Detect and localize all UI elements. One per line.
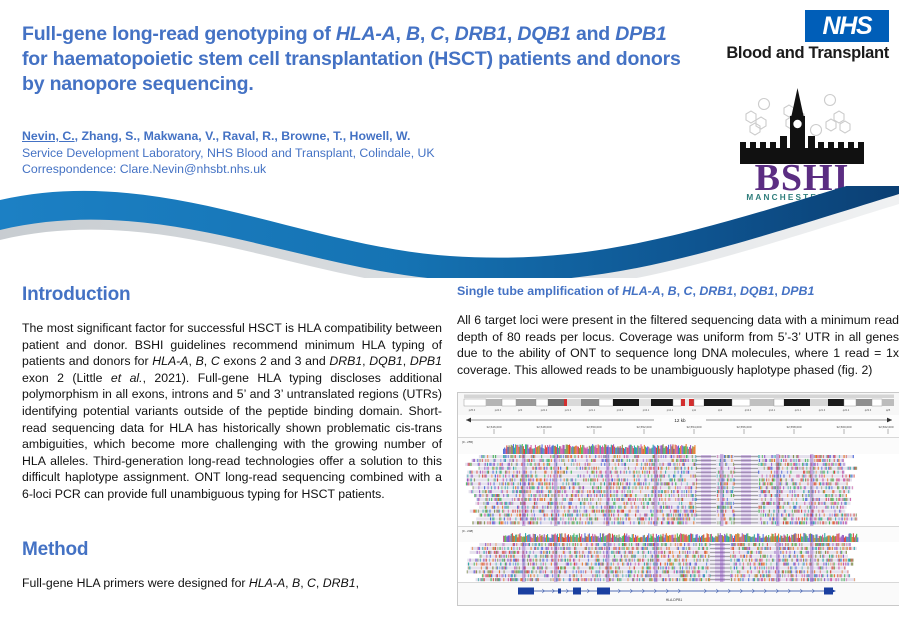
author-list: Nevin, C., Zhang, S., Makwana, V., Raval… (22, 128, 492, 145)
svg-text:q13.2: q13.2 (745, 408, 752, 412)
coverage-graphic-2: [0 - 248] (458, 527, 899, 543)
svg-text:p12.1: p12.1 (667, 408, 674, 412)
gene-annotation-track: HLA-DPB1 (458, 582, 899, 605)
author-block: Nevin, C., Zhang, S., Makwana, V., Raval… (22, 128, 492, 178)
gene-label: HLA-DPB1 (666, 598, 683, 602)
ruler-span-label: 12 kb (674, 418, 686, 423)
svg-text:32,556,000: 32,556,000 (736, 425, 751, 429)
right-column: Single tube amplification of HLA-A, B, C… (457, 284, 899, 606)
subsection-heading-single-tube-amplification: Single tube amplification of HLA-A, B, C… (457, 284, 899, 298)
svg-text:32,546,000: 32,546,000 (486, 425, 501, 429)
nhs-logo: NHS Blood and Transplant (709, 10, 889, 72)
section-heading-introduction: Introduction (22, 284, 442, 306)
svg-text:[0 - 248]: [0 - 248] (462, 529, 473, 533)
nhs-mark: NHS (805, 10, 889, 42)
svg-text:p23: p23 (518, 408, 523, 412)
svg-text:[0 - 255]: [0 - 255] (462, 440, 473, 444)
read-alignment-track-haplotype-2 (458, 542, 899, 583)
svg-text:q22.2: q22.2 (843, 408, 850, 412)
reads-graphic-1 (458, 454, 899, 526)
svg-text:32,558,000: 32,558,000 (786, 425, 801, 429)
coverage-track-haplotype-1: [0 - 255] (458, 438, 899, 454)
gene-model-graphic: HLA-DPB1 (458, 583, 899, 605)
svg-text:32,550,000: 32,550,000 (586, 425, 601, 429)
svg-text:p21.3: p21.3 (565, 408, 572, 412)
left-column: Introduction The most significant factor… (22, 284, 442, 605)
manchester-skyline (740, 88, 864, 164)
nhs-subtitle: Blood and Transplant (709, 44, 889, 63)
svg-text:32,552,000: 32,552,000 (636, 425, 651, 429)
lead-author: Nevin, C. (22, 129, 75, 143)
correspondence: Correspondence: Clare.Nevin@nhsbt.nhs.uk (22, 161, 492, 178)
method-paragraph: Full-gene HLA primers were designed for … (22, 575, 442, 592)
read-alignment-track-haplotype-1 (458, 454, 899, 526)
svg-text:q21.3: q21.3 (819, 408, 826, 412)
coverage-track-haplotype-2: [0 - 248] (458, 526, 899, 543)
ideogram-graphic: p25.3p24.3p23 p22.2p21.3p21.1 p13.3p13.1… (458, 393, 899, 415)
igv-alignment-figure: p25.3p24.3p23 p22.2p21.3p21.1 p13.3p13.1… (457, 392, 899, 606)
poster-header: Full-gene long-read genotyping of HLA-A,… (0, 0, 899, 200)
svg-text:p25.3: p25.3 (469, 408, 476, 412)
svg-text:q11: q11 (692, 408, 697, 412)
co-authors: , Zhang, S., Makwana, V., Raval, R., Bro… (75, 129, 411, 143)
svg-text:p22.2: p22.2 (541, 408, 548, 412)
svg-text:q21.1: q21.1 (795, 408, 802, 412)
svg-text:p13.1: p13.1 (643, 408, 650, 412)
svg-text:q23.3: q23.3 (865, 408, 872, 412)
results-paragraph: All 6 target loci were present in the fi… (457, 312, 899, 378)
svg-text:q12: q12 (718, 408, 723, 412)
svg-text:32,562,000: 32,562,000 (878, 425, 893, 429)
svg-text:q25: q25 (886, 408, 891, 412)
svg-text:p13.3: p13.3 (617, 408, 624, 412)
section-heading-method: Method (22, 539, 442, 561)
wave-graphic (0, 186, 899, 278)
svg-text:q14.1: q14.1 (769, 408, 776, 412)
reads-graphic-2 (458, 542, 899, 583)
chromosome-ideogram: p25.3p24.3p23 p22.2p21.3p21.1 p13.3p13.1… (458, 393, 899, 416)
svg-text:32,548,000: 32,548,000 (536, 425, 551, 429)
decorative-wave (0, 186, 899, 278)
column-spacer (22, 517, 442, 539)
genomic-ruler: 12 kb 32,546,00032,548,000 (458, 415, 899, 438)
svg-text:p24.3: p24.3 (495, 408, 502, 412)
ruler-graphic: 12 kb 32,546,00032,548,000 (458, 415, 899, 437)
svg-text:p21.1: p21.1 (589, 408, 596, 412)
svg-text:32,560,000: 32,560,000 (836, 425, 851, 429)
poster-title: Full-gene long-read genotyping of HLA-A,… (22, 22, 682, 97)
coverage-graphic-1: [0 - 255] (458, 438, 899, 454)
svg-text:32,554,000: 32,554,000 (686, 425, 701, 429)
poster-page: Full-gene long-read genotyping of HLA-A,… (0, 0, 899, 629)
affiliation: Service Development Laboratory, NHS Bloo… (22, 145, 492, 162)
introduction-paragraph: The most significant factor for successf… (22, 320, 442, 503)
